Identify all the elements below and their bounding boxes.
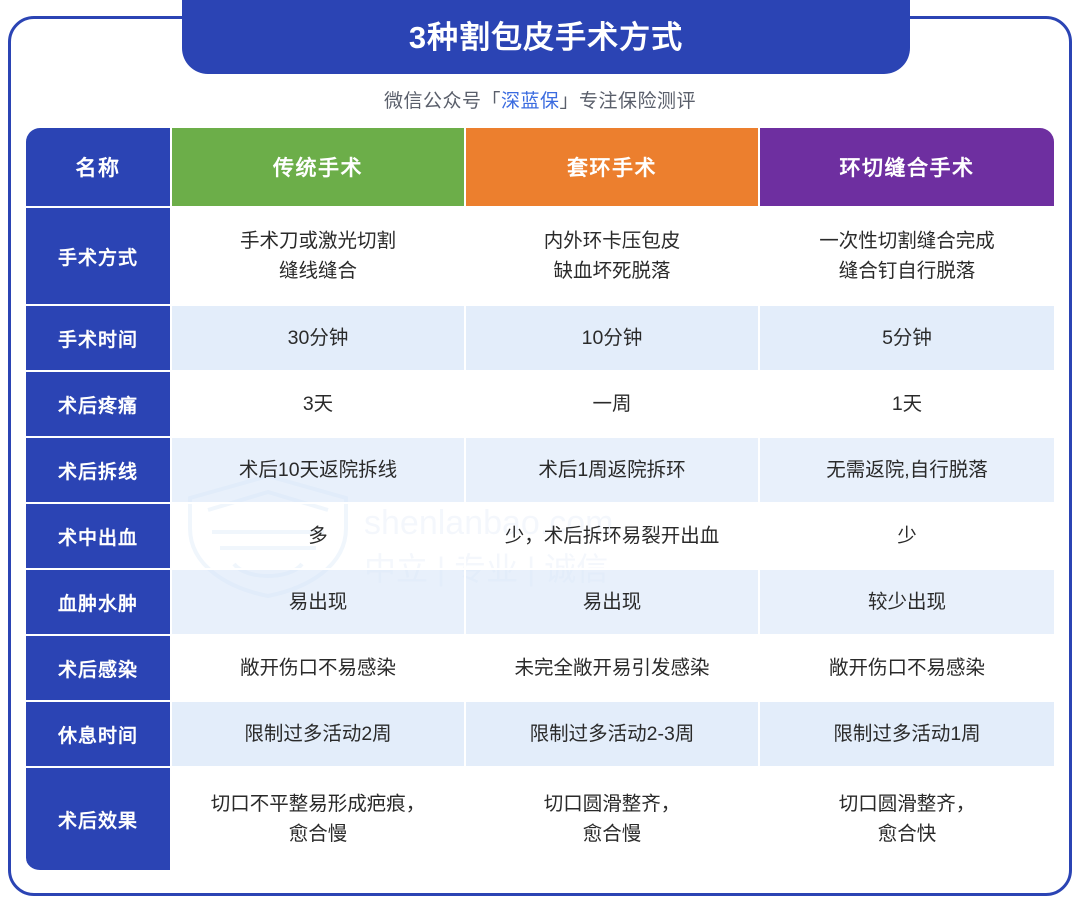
table-row: 术后效果 切口不平整易形成疤痕， 愈合慢 切口圆滑整齐， 愈合慢 切口圆滑整齐，… [26, 768, 1054, 872]
row-cell-col1: 30分钟 [172, 306, 466, 372]
subtitle-brand: 深蓝保 [501, 91, 560, 112]
page-title: 3种割包皮手术方式 [409, 22, 683, 53]
title-banner: 3种割包皮手术方式 [182, 0, 910, 74]
row-cell-col3: 切口圆滑整齐， 愈合快 [760, 768, 1054, 872]
subtitle: 微信公众号「深蓝保」专注保险测评 [0, 86, 1080, 113]
table-row: 术中出血 多 少，术后拆环易裂开出血 少 [26, 504, 1054, 570]
infographic-page: 3种割包皮手术方式 微信公众号「深蓝保」专注保险测评 shenlanbao.co… [0, 0, 1080, 905]
row-label: 休息时间 [26, 702, 172, 768]
table-row: 手术方式 手术刀或激光切割 缝线缝合 内外环卡压包皮 缺血坏死脱落 一次性切割缝… [26, 208, 1054, 306]
row-cell-col1: 3天 [172, 372, 466, 438]
table-row: 血肿水肿 易出现 易出现 较少出现 [26, 570, 1054, 636]
column-header-col2: 套环手术 [466, 128, 760, 208]
row-label: 血肿水肿 [26, 570, 172, 636]
row-cell-col3: 限制过多活动1周 [760, 702, 1054, 768]
row-cell-col2: 10分钟 [466, 306, 760, 372]
row-cell-col2: 切口圆滑整齐， 愈合慢 [466, 768, 760, 872]
row-cell-col3: 1天 [760, 372, 1054, 438]
table-header-row: 名称 传统手术 套环手术 环切缝合手术 [26, 128, 1054, 208]
row-cell-col2: 少，术后拆环易裂开出血 [466, 504, 760, 570]
row-cell-col2: 一周 [466, 372, 760, 438]
row-cell-col3: 无需返院,自行脱落 [760, 438, 1054, 504]
row-label: 手术时间 [26, 306, 172, 372]
column-header-col1: 传统手术 [172, 128, 466, 208]
row-cell-col1: 多 [172, 504, 466, 570]
table-row: 术后疼痛 3天 一周 1天 [26, 372, 1054, 438]
row-label: 术后拆线 [26, 438, 172, 504]
table-row: 手术时间 30分钟 10分钟 5分钟 [26, 306, 1054, 372]
row-cell-col2: 易出现 [466, 570, 760, 636]
column-header-col3: 环切缝合手术 [760, 128, 1054, 208]
row-cell-col2: 限制过多活动2-3周 [466, 702, 760, 768]
row-label: 术后感染 [26, 636, 172, 702]
subtitle-prefix: 微信公众号「 [384, 91, 501, 112]
table-header: 名称 传统手术 套环手术 环切缝合手术 [26, 128, 1054, 208]
row-cell-col3: 敞开伤口不易感染 [760, 636, 1054, 702]
comparison-table: 名称 传统手术 套环手术 环切缝合手术 手术方式 手术刀或激光切割 缝线缝合 内… [26, 128, 1054, 872]
row-label: 手术方式 [26, 208, 172, 306]
row-cell-col2: 内外环卡压包皮 缺血坏死脱落 [466, 208, 760, 306]
table-row: 休息时间 限制过多活动2周 限制过多活动2-3周 限制过多活动1周 [26, 702, 1054, 768]
row-cell-col1: 限制过多活动2周 [172, 702, 466, 768]
row-label: 术中出血 [26, 504, 172, 570]
row-cell-col3: 较少出现 [760, 570, 1054, 636]
row-cell-col1: 易出现 [172, 570, 466, 636]
table-row: 术后感染 敞开伤口不易感染 未完全敞开易引发感染 敞开伤口不易感染 [26, 636, 1054, 702]
row-cell-col2: 术后1周返院拆环 [466, 438, 760, 504]
row-cell-col1: 术后10天返院拆线 [172, 438, 466, 504]
row-cell-col3: 一次性切割缝合完成 缝合钉自行脱落 [760, 208, 1054, 306]
row-cell-col2: 未完全敞开易引发感染 [466, 636, 760, 702]
table-row: 术后拆线 术后10天返院拆线 术后1周返院拆环 无需返院,自行脱落 [26, 438, 1054, 504]
row-label: 术后疼痛 [26, 372, 172, 438]
row-cell-col3: 少 [760, 504, 1054, 570]
row-cell-col1: 敞开伤口不易感染 [172, 636, 466, 702]
row-label: 术后效果 [26, 768, 172, 872]
column-header-name: 名称 [26, 128, 172, 208]
row-cell-col1: 切口不平整易形成疤痕， 愈合慢 [172, 768, 466, 872]
table-body: 手术方式 手术刀或激光切割 缝线缝合 内外环卡压包皮 缺血坏死脱落 一次性切割缝… [26, 208, 1054, 872]
row-cell-col3: 5分钟 [760, 306, 1054, 372]
subtitle-suffix: 」专注保险测评 [560, 91, 697, 112]
row-cell-col1: 手术刀或激光切割 缝线缝合 [172, 208, 466, 306]
